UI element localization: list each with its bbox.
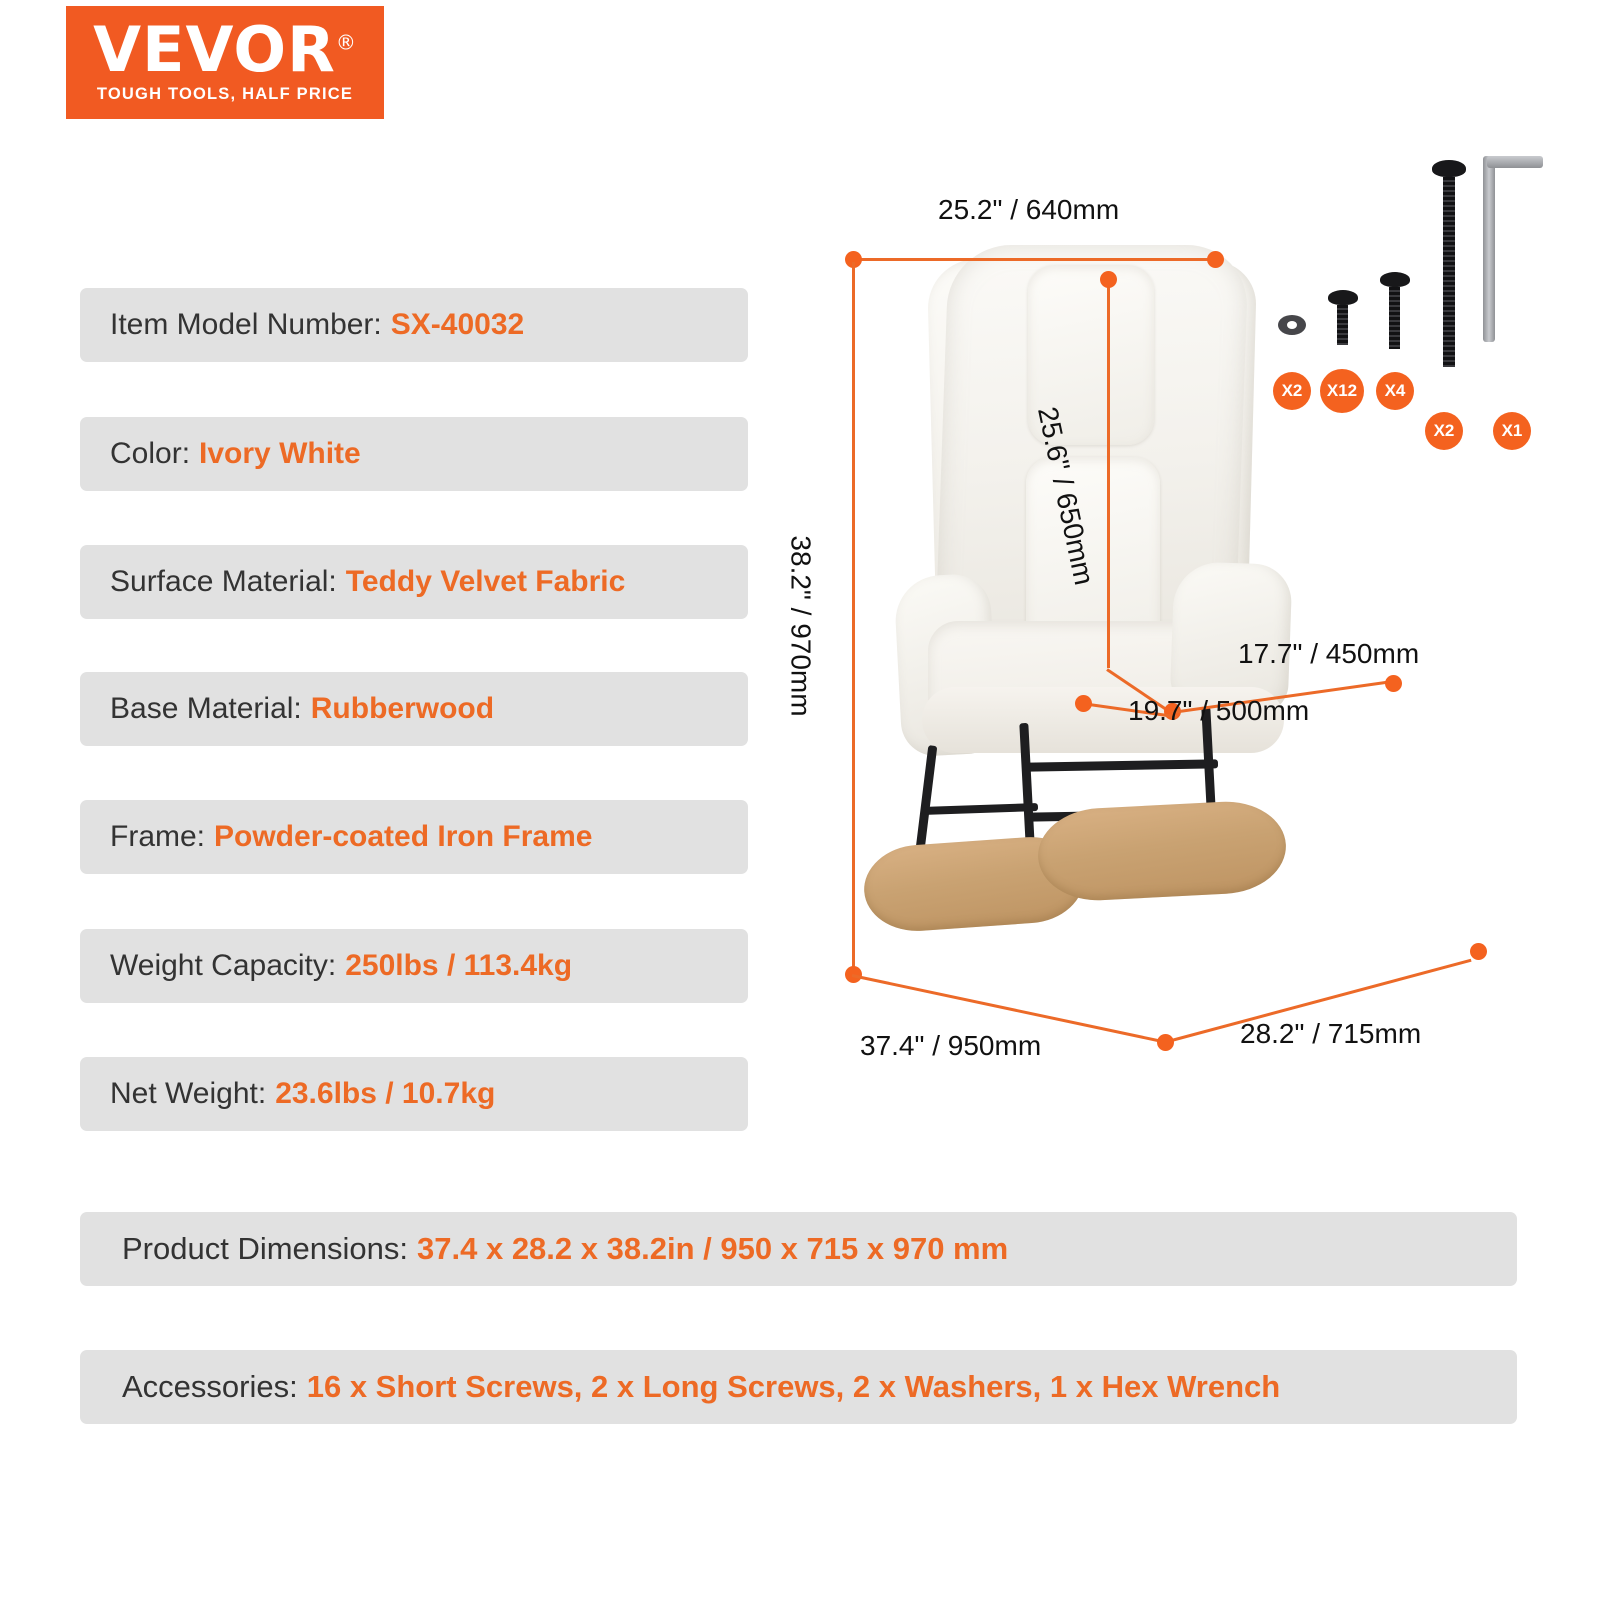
dim-label-overall-height: 38.2" / 970mm: [785, 535, 817, 716]
brand-wordmark: VEVOR: [93, 13, 336, 86]
spec-label: Product Dimensions:: [122, 1231, 408, 1267]
spec-value: 23.6lbs / 10.7kg: [275, 1077, 495, 1111]
washer-qty-badge: X2: [1273, 372, 1311, 410]
spec-label: Surface Material:: [110, 565, 337, 599]
dim-line-overall-height: [852, 262, 855, 974]
spec-row-frame: Frame: Powder-coated Iron Frame: [80, 800, 748, 874]
spec-value: Ivory White: [199, 437, 361, 471]
medium-screw-qty-badge: X4: [1376, 372, 1414, 410]
spec-row-color: Color: Ivory White: [80, 417, 748, 491]
long-screw-icon: [1432, 160, 1466, 367]
spec-label: Net Weight:: [110, 1077, 266, 1111]
short-screw-qty-badge: X12: [1320, 369, 1364, 413]
spec-value: 250lbs / 113.4kg: [345, 949, 572, 983]
dim-dot-seat-depth-right: [1385, 675, 1402, 692]
vevor-logo: VEVOR® TOUGH TOOLS, HALF PRICE: [66, 6, 384, 119]
product-diagram: 25.2" / 640mm 38.2" / 970mm 25.6" / 650m…: [760, 150, 1560, 1070]
spec-row-model-number: Item Model Number: SX-40032: [80, 288, 748, 362]
spec-label: Weight Capacity:: [110, 949, 336, 983]
spec-label: Frame:: [110, 820, 205, 854]
spec-value: SX-40032: [391, 308, 524, 342]
spec-value: Powder-coated Iron Frame: [214, 820, 592, 854]
spec-label: Color:: [110, 437, 190, 471]
brand-name: VEVOR®: [93, 21, 357, 80]
dim-dot-bottom-right: [1470, 943, 1487, 960]
dim-label-overall-length: 37.4" / 950mm: [860, 1030, 1041, 1062]
brand-tagline: TOUGH TOOLS, HALF PRICE: [97, 85, 353, 104]
medium-screw-icon: [1380, 272, 1410, 349]
spec-row-weight-capacity: Weight Capacity: 250lbs / 113.4kg: [80, 929, 748, 1003]
dim-dot-backrest-top: [1100, 271, 1117, 288]
spec-label: Base Material:: [110, 692, 302, 726]
dim-label-seat-depth: 17.7" / 450mm: [1238, 638, 1419, 670]
spec-row-accessories: Accessories: 16 x Short Screws, 2 x Long…: [80, 1350, 1517, 1424]
registered-mark: ®: [336, 30, 357, 54]
spec-label: Accessories:: [122, 1369, 298, 1405]
spec-row-surface-material: Surface Material: Teddy Velvet Fabric: [80, 545, 748, 619]
dim-line-backrest-vertical: [1107, 278, 1110, 668]
dim-label-seat-width: 19.7" / 500mm: [1128, 695, 1309, 727]
chair-rocker-runner-right: [1036, 799, 1288, 904]
dim-dot-bottom-center: [1157, 1034, 1174, 1051]
spec-value: Rubberwood: [311, 692, 494, 726]
dim-label-top-width: 25.2" / 640mm: [938, 194, 1119, 226]
dim-dot-seat-width-left: [1075, 695, 1092, 712]
short-screw-icon: [1328, 290, 1358, 345]
long-screw-qty-badge: X2: [1425, 412, 1463, 450]
chair-stretcher-top: [1026, 759, 1218, 771]
spec-row-product-dimensions: Product Dimensions: 37.4 x 28.2 x 38.2in…: [80, 1212, 1517, 1286]
dim-dot-top-right: [1207, 251, 1224, 268]
spec-row-base-material: Base Material: Rubberwood: [80, 672, 748, 746]
dim-line-top-width: [852, 258, 1214, 261]
hex-wrench-icon: [1483, 156, 1553, 342]
hex-wrench-qty-badge: X1: [1493, 412, 1531, 450]
spec-row-net-weight: Net Weight: 23.6lbs / 10.7kg: [80, 1057, 748, 1131]
rocking-chair-illustration: [850, 245, 1330, 965]
spec-value: 37.4 x 28.2 x 38.2in / 950 x 715 x 970 m…: [417, 1231, 1008, 1267]
chair-stretcher-left: [922, 803, 1038, 815]
dim-label-overall-depth: 28.2" / 715mm: [1240, 1018, 1421, 1050]
spec-label: Item Model Number:: [110, 308, 382, 342]
washer-icon: [1278, 315, 1306, 335]
spec-value: Teddy Velvet Fabric: [346, 565, 626, 599]
spec-value: 16 x Short Screws, 2 x Long Screws, 2 x …: [307, 1369, 1280, 1405]
